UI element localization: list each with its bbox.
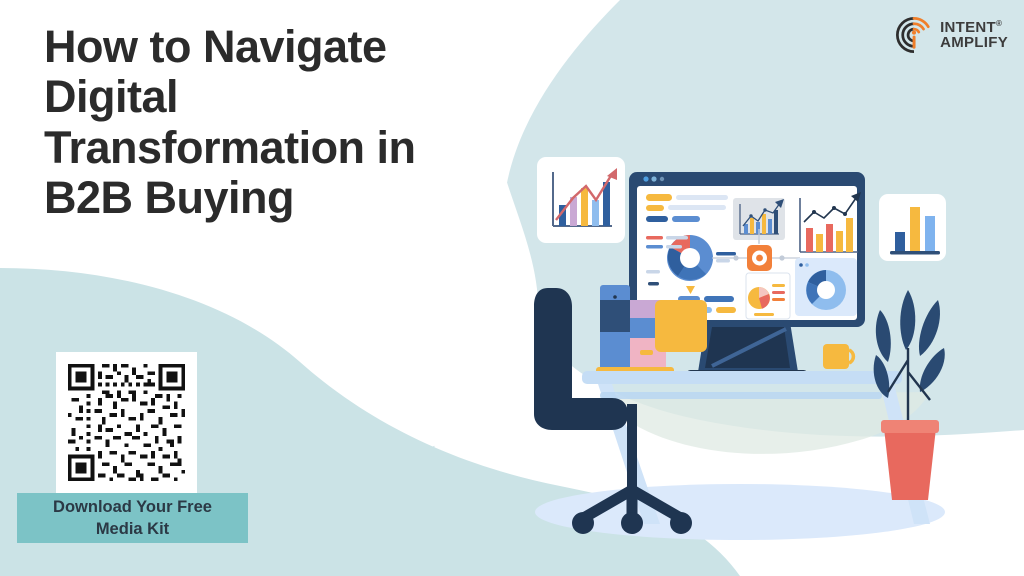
- logo-word-intent: INTENT®: [940, 20, 1008, 35]
- page-title: How to Navigate Digital Transformation i…: [44, 22, 514, 224]
- dashboard-pie-small: [746, 273, 790, 319]
- qr-code-card[interactable]: [56, 352, 197, 493]
- coffee-mug: [823, 344, 853, 369]
- chart-card-right: [879, 194, 946, 261]
- logo-word-amplify: AMPLIFY: [940, 35, 1008, 50]
- download-media-kit-button[interactable]: Download Your Free Media Kit: [17, 493, 248, 543]
- chart-card-left: [537, 157, 625, 243]
- brand-logo[interactable]: INTENT® AMPLIFY: [895, 16, 1008, 54]
- dashboard-donut-right: [795, 258, 857, 316]
- registered-mark: ®: [996, 19, 1002, 28]
- logo-wordmark: INTENT® AMPLIFY: [940, 20, 1008, 50]
- signal-wave-icon: [895, 16, 933, 54]
- banner-canvas: How to Navigate Digital Transformation i…: [0, 0, 1024, 576]
- qr-code[interactable]: [64, 360, 189, 485]
